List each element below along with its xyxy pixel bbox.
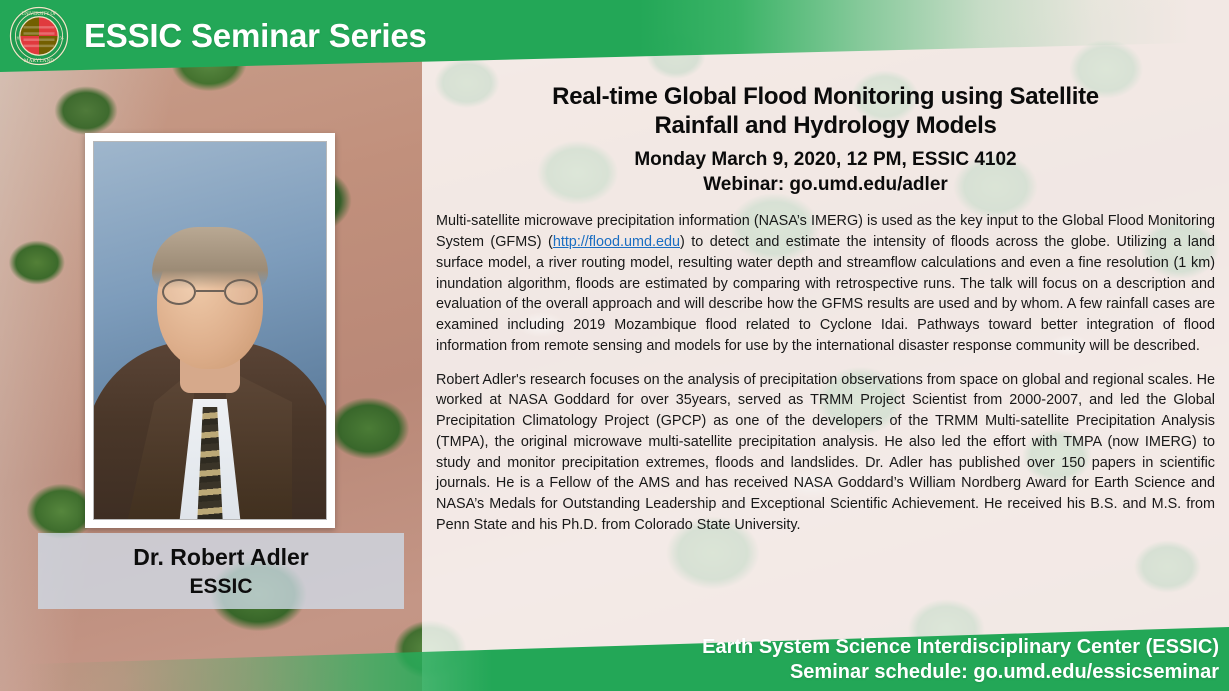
umd-seal-icon: UNIVERSITY OF MARYLAND 18 56	[8, 5, 70, 67]
talk-details-column: Real-time Global Flood Monitoring using …	[422, 0, 1229, 691]
speaker-photo	[93, 141, 327, 520]
footer-schedule-link[interactable]: Seminar schedule: go.umd.edu/essicsemina…	[790, 661, 1219, 684]
speaker-affiliation: ESSIC	[189, 575, 252, 599]
gfms-url-link[interactable]: http://flood.umd.edu	[553, 234, 680, 250]
svg-text:UNIVERSITY OF: UNIVERSITY OF	[22, 12, 57, 17]
svg-text:56: 56	[59, 36, 63, 41]
speaker-name: Dr. Robert Adler	[133, 544, 309, 571]
seminar-flyer: UNIVERSITY OF MARYLAND 18 56 ESSIC Semin…	[0, 0, 1229, 691]
portrait-glasses	[162, 279, 258, 305]
speaker-photo-frame	[85, 133, 335, 528]
talk-title-line-2: Rainfall and Hydrology Models	[436, 111, 1215, 140]
talk-webinar-link[interactable]: Webinar: go.umd.edu/adler	[436, 173, 1215, 198]
biography-paragraph: Robert Adler's research focuses on the a…	[436, 370, 1215, 536]
abstract-paragraph: Multi-satellite microwave precipitation …	[436, 211, 1215, 356]
talk-datetime-location: Monday March 9, 2020, 12 PM, ESSIC 4102	[436, 148, 1215, 173]
footer-organization: Earth System Science Interdisciplinary C…	[702, 636, 1219, 659]
speaker-nameplate: Dr. Robert Adler ESSIC	[38, 533, 404, 609]
footer-bar: Earth System Science Interdisciplinary C…	[0, 629, 1229, 691]
talk-title-line-1: Real-time Global Flood Monitoring using …	[436, 82, 1215, 111]
svg-text:MARYLAND: MARYLAND	[24, 58, 54, 64]
svg-text:18: 18	[15, 36, 19, 41]
header-title: ESSIC Seminar Series	[84, 17, 427, 55]
talk-title: Real-time Global Flood Monitoring using …	[436, 82, 1215, 140]
abstract-text-after-link: ) to detect and estimate the intensity o…	[436, 234, 1215, 354]
